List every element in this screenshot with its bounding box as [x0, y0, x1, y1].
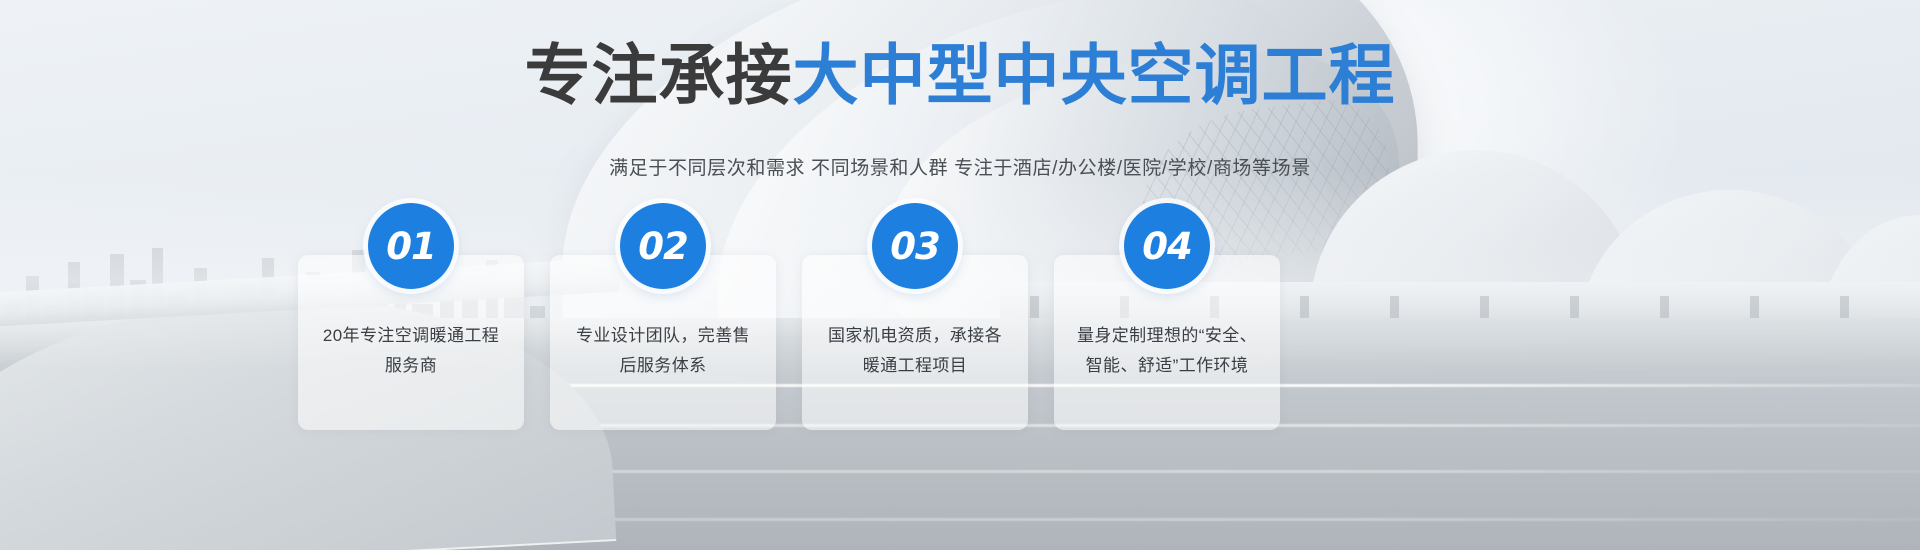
- badge-number: 03: [890, 225, 940, 268]
- badge-number: 02: [638, 225, 688, 268]
- step-badge-03: 03: [872, 203, 958, 289]
- step-badge-04: 04: [1124, 203, 1210, 289]
- badge-number: 04: [1142, 225, 1192, 268]
- feature-card[interactable]: 02 专业设计团队，完善售后服务体系: [550, 255, 776, 430]
- feature-card[interactable]: 04 量身定制理想的“安全、智能、舒适”工作环境: [1054, 255, 1280, 430]
- feature-card[interactable]: 01 20年专注空调暖通工程服务商: [298, 255, 524, 430]
- feature-card-text: 20年专注空调暖通工程服务商: [320, 321, 502, 381]
- banner-headline: 专注承接大中型中央空调工程: [0, 41, 1920, 110]
- feature-card[interactable]: 03 国家机电资质，承接各暖通工程项目: [802, 255, 1028, 430]
- feature-card-text: 国家机电资质，承接各暖通工程项目: [824, 321, 1006, 381]
- feature-card-text: 专业设计团队，完善售后服务体系: [572, 321, 754, 381]
- banner-subtitle: 满足于不同层次和需求 不同场景和人群 专注于酒店/办公楼/医院/学校/商场等场景: [0, 153, 1920, 180]
- step-badge-01: 01: [368, 203, 454, 289]
- badge-number: 01: [386, 225, 436, 268]
- feature-card-text: 量身定制理想的“安全、智能、舒适”工作环境: [1076, 321, 1258, 381]
- feature-card-list: 01 20年专注空调暖通工程服务商 02 专业设计团队，完善售后服务体系 03 …: [298, 255, 1328, 430]
- headline-dark-text: 专注承接: [525, 38, 793, 112]
- headline-blue-text: 大中型中央空调工程: [793, 38, 1396, 112]
- step-badge-02: 02: [620, 203, 706, 289]
- hero-banner: 专注承接大中型中央空调工程 满足于不同层次和需求 不同场景和人群 专注于酒店/办…: [0, 0, 1920, 550]
